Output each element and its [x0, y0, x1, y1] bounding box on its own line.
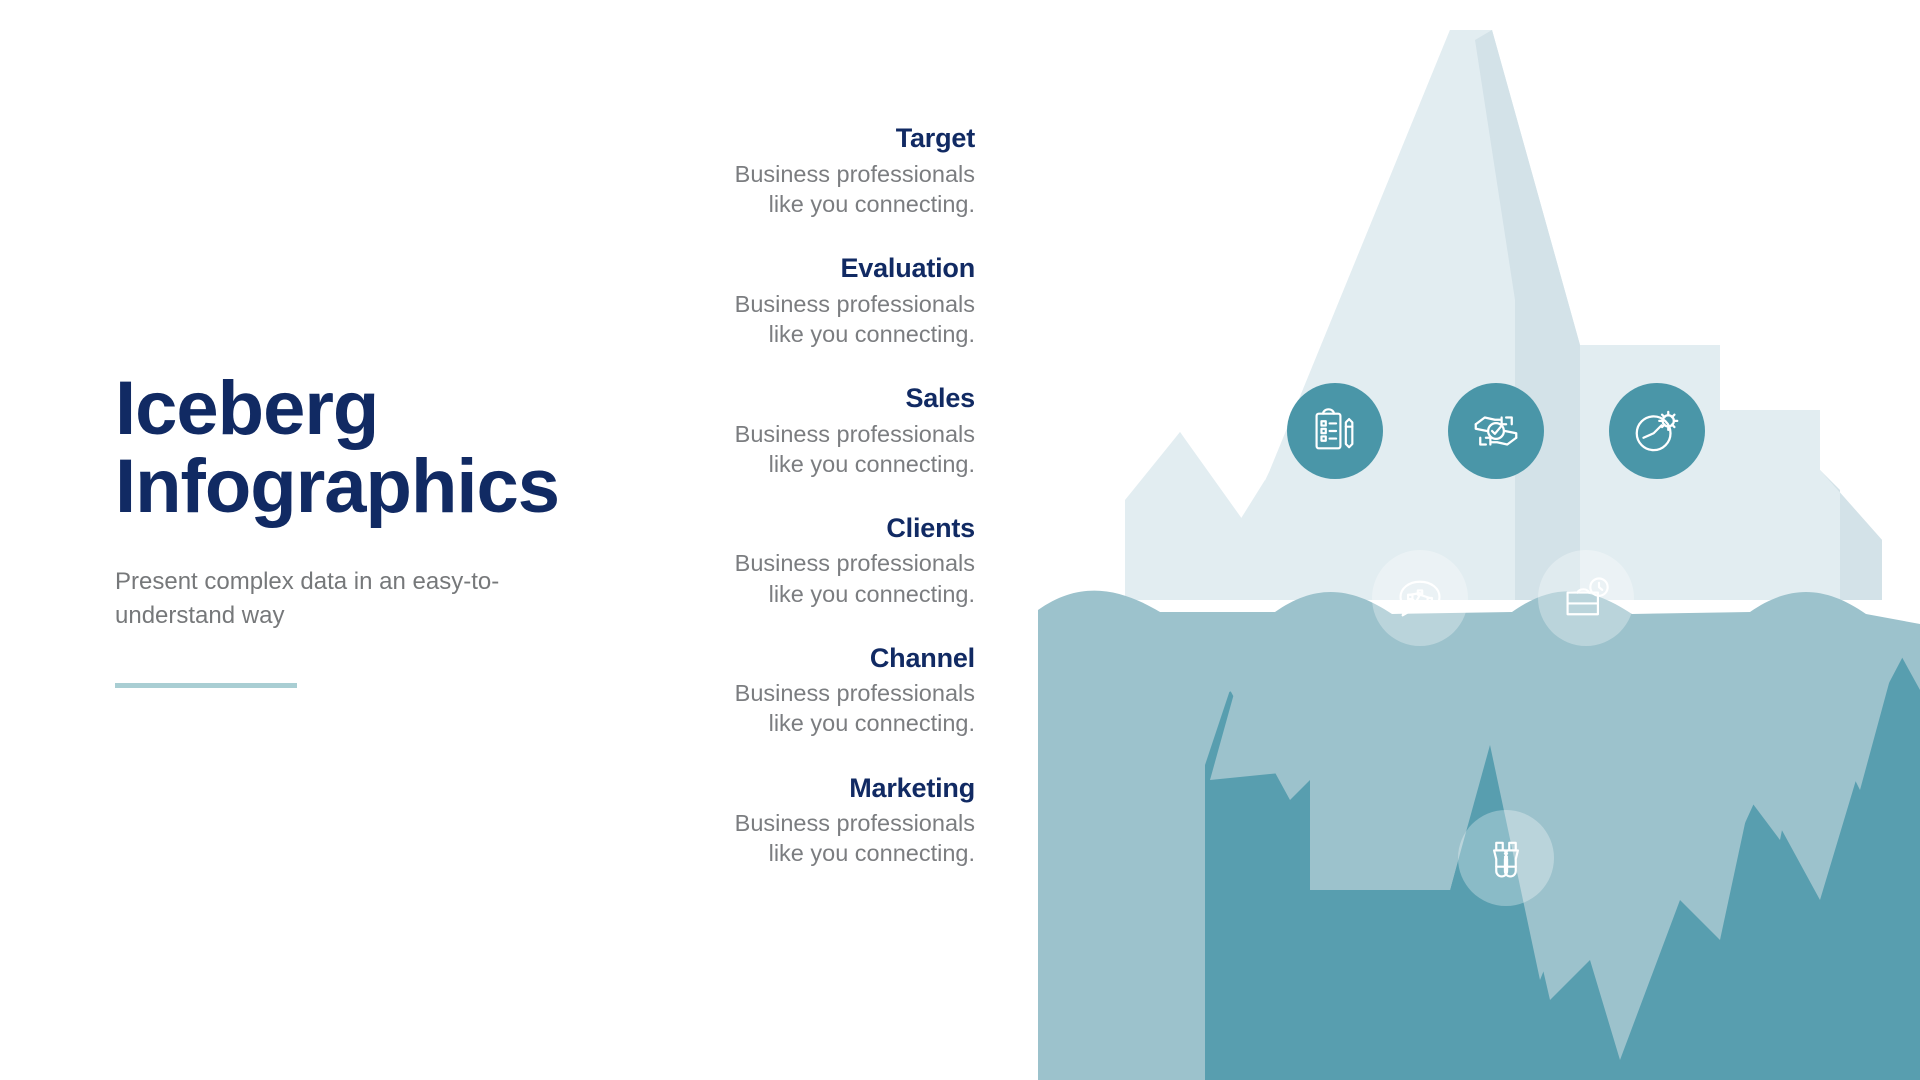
list-item-description-line-1: Business professionals: [660, 678, 975, 708]
speech-bubble-chart-icon: [1394, 572, 1446, 624]
list-item-description-line-2: like you connecting.: [660, 189, 975, 219]
list-item-description: Business professionals like you connecti…: [660, 678, 975, 738]
list-item-description-line-2: like you connecting.: [660, 319, 975, 349]
list-item-description: Business professionals like you connecti…: [660, 548, 975, 608]
binoculars-icon: [1480, 832, 1532, 884]
list-item-description-line-1: Business professionals: [660, 289, 975, 319]
list-item-title: Evaluation: [660, 252, 975, 286]
list-item[interactable]: Target Business professionals like you c…: [660, 122, 975, 219]
icon-badge-clients[interactable]: [1372, 550, 1468, 646]
icon-badge-target[interactable]: [1287, 383, 1383, 479]
list-item-description-line-1: Business professionals: [660, 419, 975, 449]
list-item-description-line-2: like you connecting.: [660, 838, 975, 868]
icon-badge-marketing[interactable]: [1458, 810, 1554, 906]
list-item-description: Business professionals like you connecti…: [660, 808, 975, 868]
list-item-description-line-2: like you connecting.: [660, 449, 975, 479]
pie-chart-gear-icon: [1630, 404, 1684, 458]
title-divider: [115, 683, 297, 688]
page-title-line-1: Iceberg: [115, 366, 378, 451]
list-item-description-line-1: Business professionals: [660, 159, 975, 189]
clipboard-checklist-icon: [1309, 405, 1361, 457]
list-item-title: Clients: [660, 512, 975, 546]
list-item-description: Business professionals like you connecti…: [660, 419, 975, 479]
list-item[interactable]: Channel Business professionals like you …: [660, 642, 975, 739]
icon-badge-sales[interactable]: [1609, 383, 1705, 479]
list-item[interactable]: Evaluation Business professionals like y…: [660, 252, 975, 349]
page-subtitle: Present complex data in an easy-to-under…: [115, 565, 585, 633]
list-item-title: Sales: [660, 382, 975, 416]
list-item-description: Business professionals like you connecti…: [660, 159, 975, 219]
list-item-title: Marketing: [660, 772, 975, 806]
hands-shield-check-icon: [1469, 404, 1523, 458]
list-item-title: Channel: [660, 642, 975, 676]
list-item-description-line-2: like you connecting.: [660, 708, 975, 738]
list-item-description-line-1: Business professionals: [660, 808, 975, 838]
infographic-list: Target Business professionals like you c…: [660, 122, 975, 868]
icon-badge-channel[interactable]: [1538, 550, 1634, 646]
list-item[interactable]: Sales Business professionals like you co…: [660, 382, 975, 479]
page-title-line-2: Infographics: [115, 448, 635, 526]
icon-badge-evaluation[interactable]: [1448, 383, 1544, 479]
list-item[interactable]: Clients Business professionals like you …: [660, 512, 975, 609]
briefcase-clock-icon: [1560, 572, 1612, 624]
list-item-description: Business professionals like you connecti…: [660, 289, 975, 349]
title-block: Iceberg Infographics Present complex dat…: [115, 370, 635, 688]
list-item[interactable]: Marketing Business professionals like yo…: [660, 772, 975, 869]
iceberg-graphic: [1020, 0, 1920, 1080]
iceberg-shape: [1020, 0, 1920, 1080]
list-item-description-line-1: Business professionals: [660, 548, 975, 578]
page-title: Iceberg Infographics: [115, 370, 635, 525]
iceberg-above-water: [1125, 30, 1882, 600]
list-item-title: Target: [660, 122, 975, 156]
list-item-description-line-2: like you connecting.: [660, 579, 975, 609]
